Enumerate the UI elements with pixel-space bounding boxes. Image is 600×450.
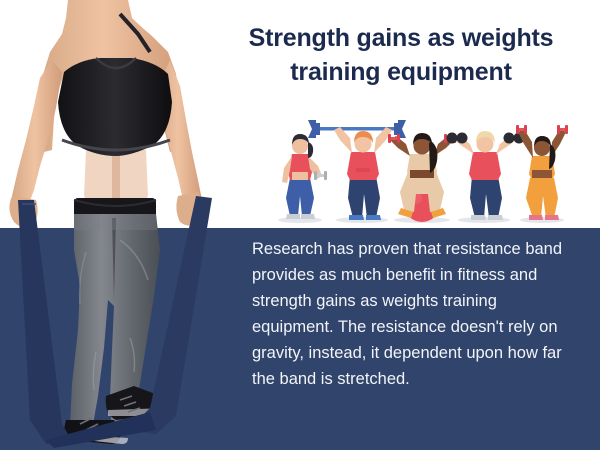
figure-woman-with-dumbbell <box>282 134 327 219</box>
page-title: Strength gains as weights training equip… <box>210 22 592 89</box>
exercise-illustration <box>272 116 572 228</box>
figure-woman-on-exercise-ball <box>388 133 456 222</box>
figure-man-lifting-barbell <box>308 120 406 220</box>
model-photo <box>0 0 232 450</box>
description-text: Research has proven that resistance band… <box>252 236 582 392</box>
figure-woman-arms-raised <box>516 125 568 220</box>
promo-banner: Strength gains as weights training equip… <box>0 0 600 450</box>
figure-person-shoulder-press <box>447 131 525 220</box>
